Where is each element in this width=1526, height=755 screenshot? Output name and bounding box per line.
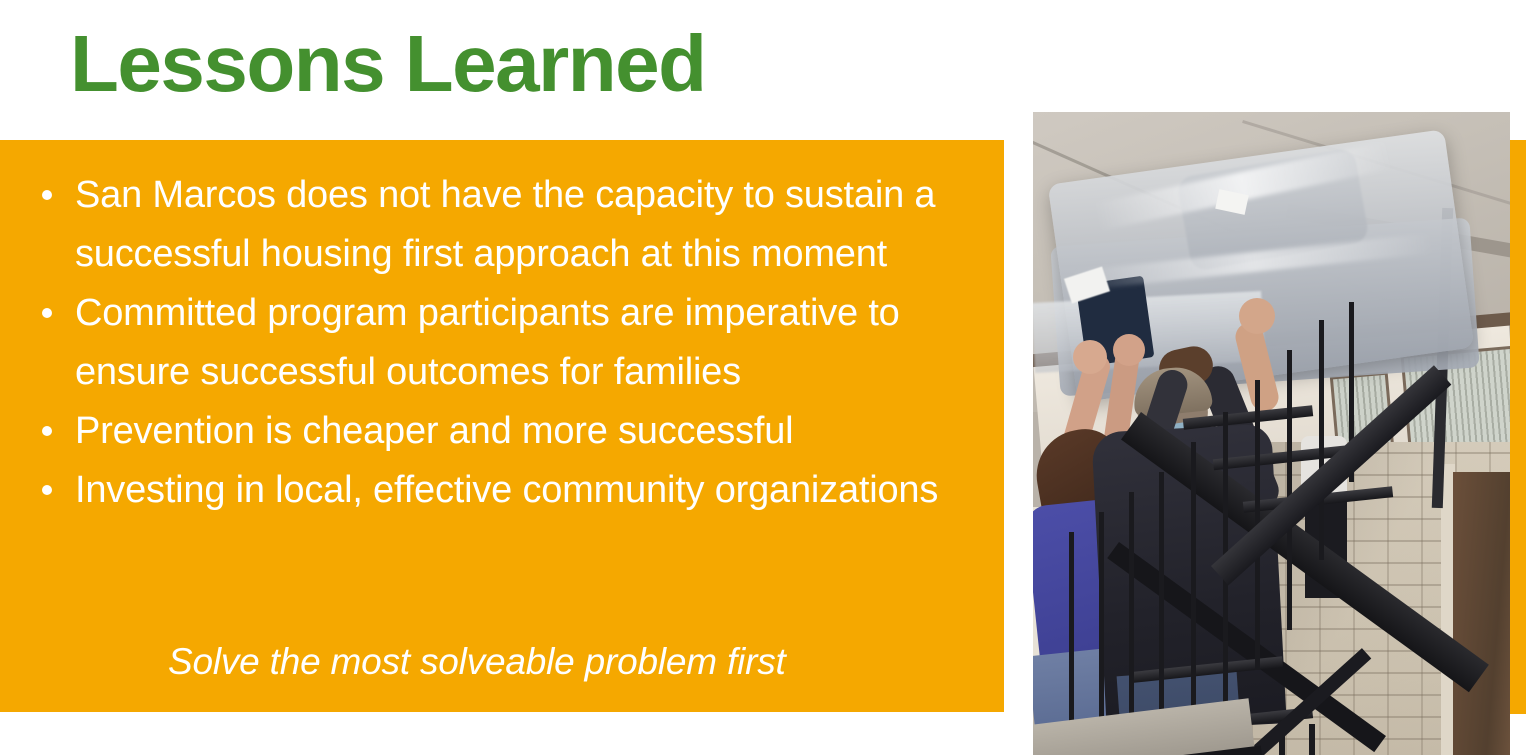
bullet-dot-icon [42,190,52,200]
bullet-dot-icon [42,485,52,495]
photo-baluster [1319,320,1324,560]
photo-person-center-hand [1239,298,1275,334]
list-item: Prevention is cheaper and more successfu… [34,402,994,461]
photo-mattress-move [1033,112,1510,755]
bullet-list: San Marcos does not have the capacity to… [34,166,994,520]
list-item-text: San Marcos does not have the capacity to… [75,174,935,275]
list-item-text: Investing in local, effective community … [75,469,938,511]
list-item: Investing in local, effective community … [34,461,994,520]
photo-baluster [1287,350,1292,630]
bullet-dot-icon [42,308,52,318]
list-item-text: Committed program participants are imper… [75,292,900,393]
slide-canvas: Lessons Learned San Marcos does not have… [0,0,1526,755]
tagline-text: Solve the most solveable problem first [168,641,786,683]
page-title: Lessons Learned [70,22,706,106]
photo-person-left-hand [1113,334,1145,366]
photo-door [1453,472,1510,755]
photo-person-left-hand [1073,340,1107,374]
accent-strip-right [1510,140,1526,714]
photo-baluster [1309,724,1315,755]
list-item-text: Prevention is cheaper and more successfu… [75,410,793,452]
list-item: Committed program participants are imper… [34,284,994,402]
list-item: San Marcos does not have the capacity to… [34,166,994,284]
bullet-dot-icon [42,426,52,436]
